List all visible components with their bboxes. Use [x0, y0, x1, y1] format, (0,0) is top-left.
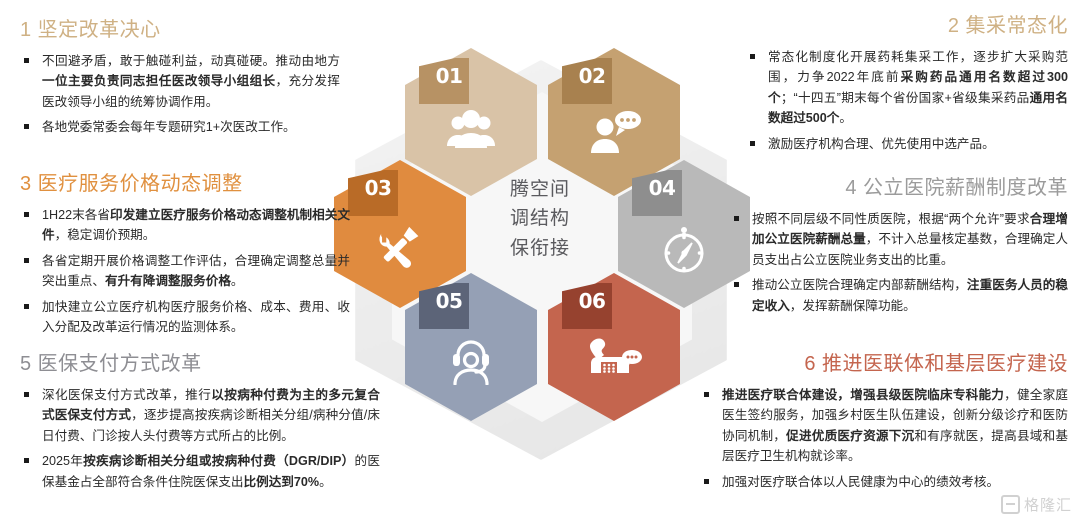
- section-block-6: 6 推进医联体和基层医疗建设 推进医疗联合体建设，增强县级医院临床专科能力，健全…: [700, 352, 1068, 497]
- hexagon-tile-05[interactable]: 05: [405, 273, 537, 421]
- hexagon-number-label: 05: [427, 289, 471, 313]
- center-slogan-line-1: 腾空间: [465, 175, 615, 204]
- bullet-item: 加快建立公立医疗机构医疗服务价格、成本、费用、收入分配及改革运行情况的监测体系。: [20, 297, 350, 338]
- section-title-1: 1 坚定改革决心: [20, 18, 340, 42]
- headset-support-icon: [405, 335, 537, 385]
- section-block-1: 1 坚定改革决心 不回避矛盾，敢于触碰利益，动真碰硬。推动由地方一位主要负责同志…: [20, 18, 340, 143]
- bullet-item: 激励医疗机构合理、优先使用中选产品。: [746, 134, 1068, 154]
- section-block-3: 3 医疗服务价格动态调整 1H22末各省印发建立医疗服务价格动态调整机制相关文件…: [20, 172, 350, 342]
- section-title-2: 2 集采常态化: [746, 14, 1068, 38]
- hexagon-number-label: 02: [570, 64, 614, 88]
- bullet-item: 按照不同层级不同性质医院，根据“两个允许”要求合理增加公立医院薪酬总量，不计入总…: [730, 209, 1068, 270]
- section-bullets-4: 按照不同层级不同性质医院，根据“两个允许”要求合理增加公立医院薪酬总量，不计入总…: [730, 209, 1068, 316]
- hexagon-tile-06[interactable]: 06: [548, 273, 680, 421]
- section-title-3: 3 医疗服务价格动态调整: [20, 172, 350, 196]
- bullet-item: 1H22末各省印发建立医疗服务价格动态调整机制相关文件，稳定调价预期。: [20, 205, 350, 246]
- person-speech-bubble-icon: [548, 110, 680, 156]
- section-block-5: 5 医保支付方式改革 深化医保支付方式改革，推行以按病种付费为主的多元复合式医保…: [20, 352, 380, 497]
- hexagon-number-label: 06: [570, 289, 614, 313]
- watermark-text: 格隆汇: [1024, 494, 1072, 515]
- section-bullets-2: 常态化制度化开展药耗集采工作，逐步扩大采购范围，力争2022年底前采购药品通用名…: [746, 47, 1068, 154]
- bullet-item: 不回避矛盾，敢于触碰利益，动真碰硬。推动由地方一位主要负责同志担任医改领导小组组…: [20, 51, 340, 112]
- wrench-screwdriver-icon: [334, 222, 466, 270]
- telephone-chat-icon: [548, 335, 680, 379]
- bullet-item: 推进医疗联合体建设，增强县级医院临床专科能力，健全家庭医生签约服务，加强乡村医生…: [700, 385, 1068, 467]
- bullet-item: 各省定期开展价格调整工作评估，合理确定调整总量并突出重点、有升有降调整服务价格。: [20, 251, 350, 292]
- bullet-item: 推动公立医院合理确定内部薪酬结构，注重医务人员的稳定收入，发挥薪酬保障功能。: [730, 275, 1068, 316]
- watermark-logo-icon: [1001, 495, 1020, 514]
- hexagon-number-label: 03: [356, 176, 400, 200]
- section-block-2: 2 集采常态化 常态化制度化开展药耗集采工作，逐步扩大采购范围，力争2022年底…: [746, 14, 1068, 159]
- slide-canvas: 01 02: [0, 0, 1080, 521]
- hexagon-number-label: 04: [640, 176, 684, 200]
- bullet-item: 各地党委常委会每年专题研究1+次医改工作。: [20, 117, 340, 137]
- bullet-item: 2025年按疾病诊断相关分组或按病种付费（DGR/DIP）的医保基金占全部符合条…: [20, 451, 380, 492]
- bullet-item: 常态化制度化开展药耗集采工作，逐步扩大采购范围，力争2022年底前采购药品通用名…: [746, 47, 1068, 129]
- section-bullets-6: 推进医疗联合体建设，增强县级医院临床专科能力，健全家庭医生签约服务，加强乡村医生…: [700, 385, 1068, 492]
- center-slogan: 腾空间 调结构 保衔接: [465, 175, 615, 263]
- watermark: 格隆汇: [1001, 494, 1072, 515]
- section-bullets-5: 深化医保支付方式改革，推行以按病种付费为主的多元复合式医保支付方式，逐步提高按疾…: [20, 385, 380, 492]
- section-block-4: 4 公立医院薪酬制度改革 按照不同层级不同性质医院，根据“两个允许”要求合理增加…: [730, 176, 1068, 321]
- section-title-6: 6 推进医联体和基层医疗建设: [700, 352, 1068, 376]
- hexagon-cluster: 01 02: [330, 20, 750, 480]
- people-group-icon: [405, 110, 537, 150]
- bullet-item: 深化医保支付方式改革，推行以按病种付费为主的多元复合式医保支付方式，逐步提高按疾…: [20, 385, 380, 446]
- center-slogan-line-3: 保衔接: [465, 234, 615, 263]
- section-title-5: 5 医保支付方式改革: [20, 352, 380, 376]
- hexagon-number-label: 01: [427, 64, 471, 88]
- section-title-4: 4 公立医院薪酬制度改革: [730, 176, 1068, 200]
- bullet-item: 加强对医疗联合体以人民健康为中心的绩效考核。: [700, 472, 1068, 492]
- section-bullets-1: 不回避矛盾，敢于触碰利益，动真碰硬。推动由地方一位主要负责同志担任医改领导小组组…: [20, 51, 340, 138]
- center-slogan-line-2: 调结构: [465, 204, 615, 233]
- section-bullets-3: 1H22末各省印发建立医疗服务价格动态调整机制相关文件，稳定调价预期。各省定期开…: [20, 205, 350, 337]
